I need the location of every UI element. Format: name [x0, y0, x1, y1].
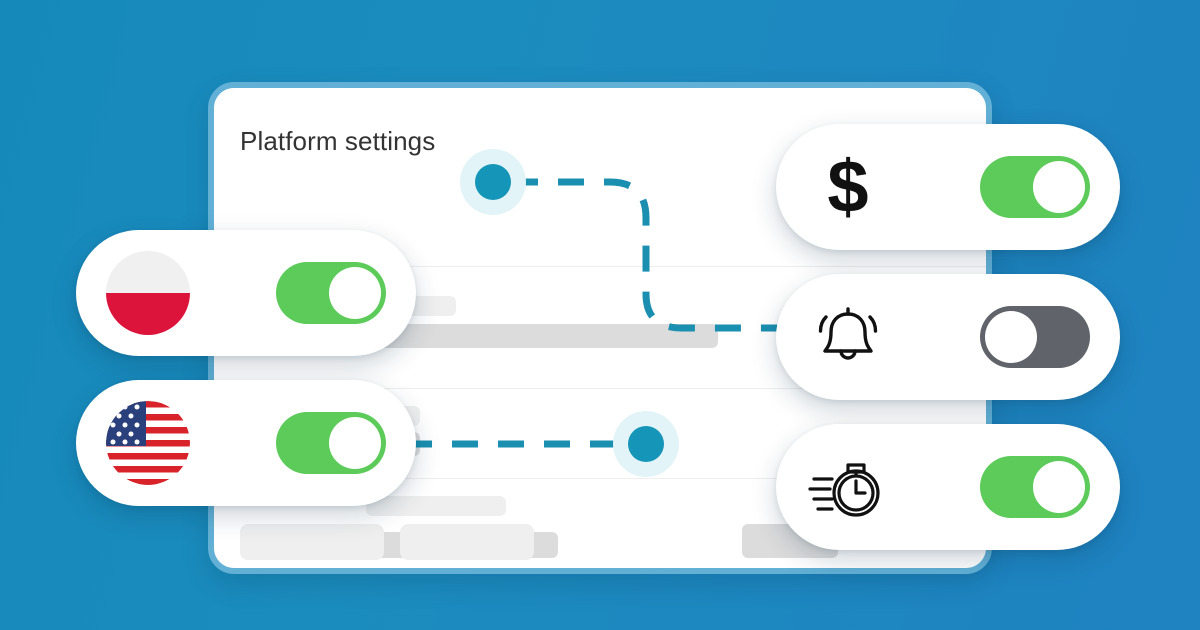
- bell-icon: [806, 295, 890, 379]
- toggle-switch[interactable]: [276, 412, 386, 474]
- toggle-knob: [1033, 461, 1085, 513]
- node-dot: [628, 426, 664, 462]
- flag-poland-icon: [106, 251, 190, 335]
- connector-top-path: [512, 182, 790, 328]
- card-node-top[interactable]: [460, 149, 526, 215]
- dollar-sign-icon: $: [806, 145, 890, 229]
- node-dot: [475, 164, 511, 200]
- flag-stripe-red: [106, 293, 190, 335]
- flag-stripe-white: [106, 251, 190, 293]
- usa-language-toggle[interactable]: [76, 380, 416, 506]
- currency-toggle[interactable]: $: [776, 124, 1120, 250]
- toggle-knob: [1033, 161, 1085, 213]
- dollar-glyph: $: [827, 150, 868, 224]
- toggle-knob: [985, 311, 1037, 363]
- toggle-switch[interactable]: [980, 306, 1090, 368]
- card-node-bottom[interactable]: [613, 411, 679, 477]
- stopwatch-icon: [806, 445, 890, 529]
- speed-toggle[interactable]: [776, 424, 1120, 550]
- toggle-knob: [329, 267, 381, 319]
- poland-language-toggle[interactable]: [76, 230, 416, 356]
- toggle-switch[interactable]: [980, 456, 1090, 518]
- notifications-toggle[interactable]: [776, 274, 1120, 400]
- flag-usa-icon: [106, 401, 190, 485]
- flag-circle: [106, 251, 190, 335]
- toggle-switch[interactable]: [980, 156, 1090, 218]
- bell-glyph: [808, 297, 888, 377]
- toggle-knob: [329, 417, 381, 469]
- flag-circle: [106, 401, 190, 485]
- stopwatch-glyph: [806, 447, 890, 527]
- toggle-switch[interactable]: [276, 262, 386, 324]
